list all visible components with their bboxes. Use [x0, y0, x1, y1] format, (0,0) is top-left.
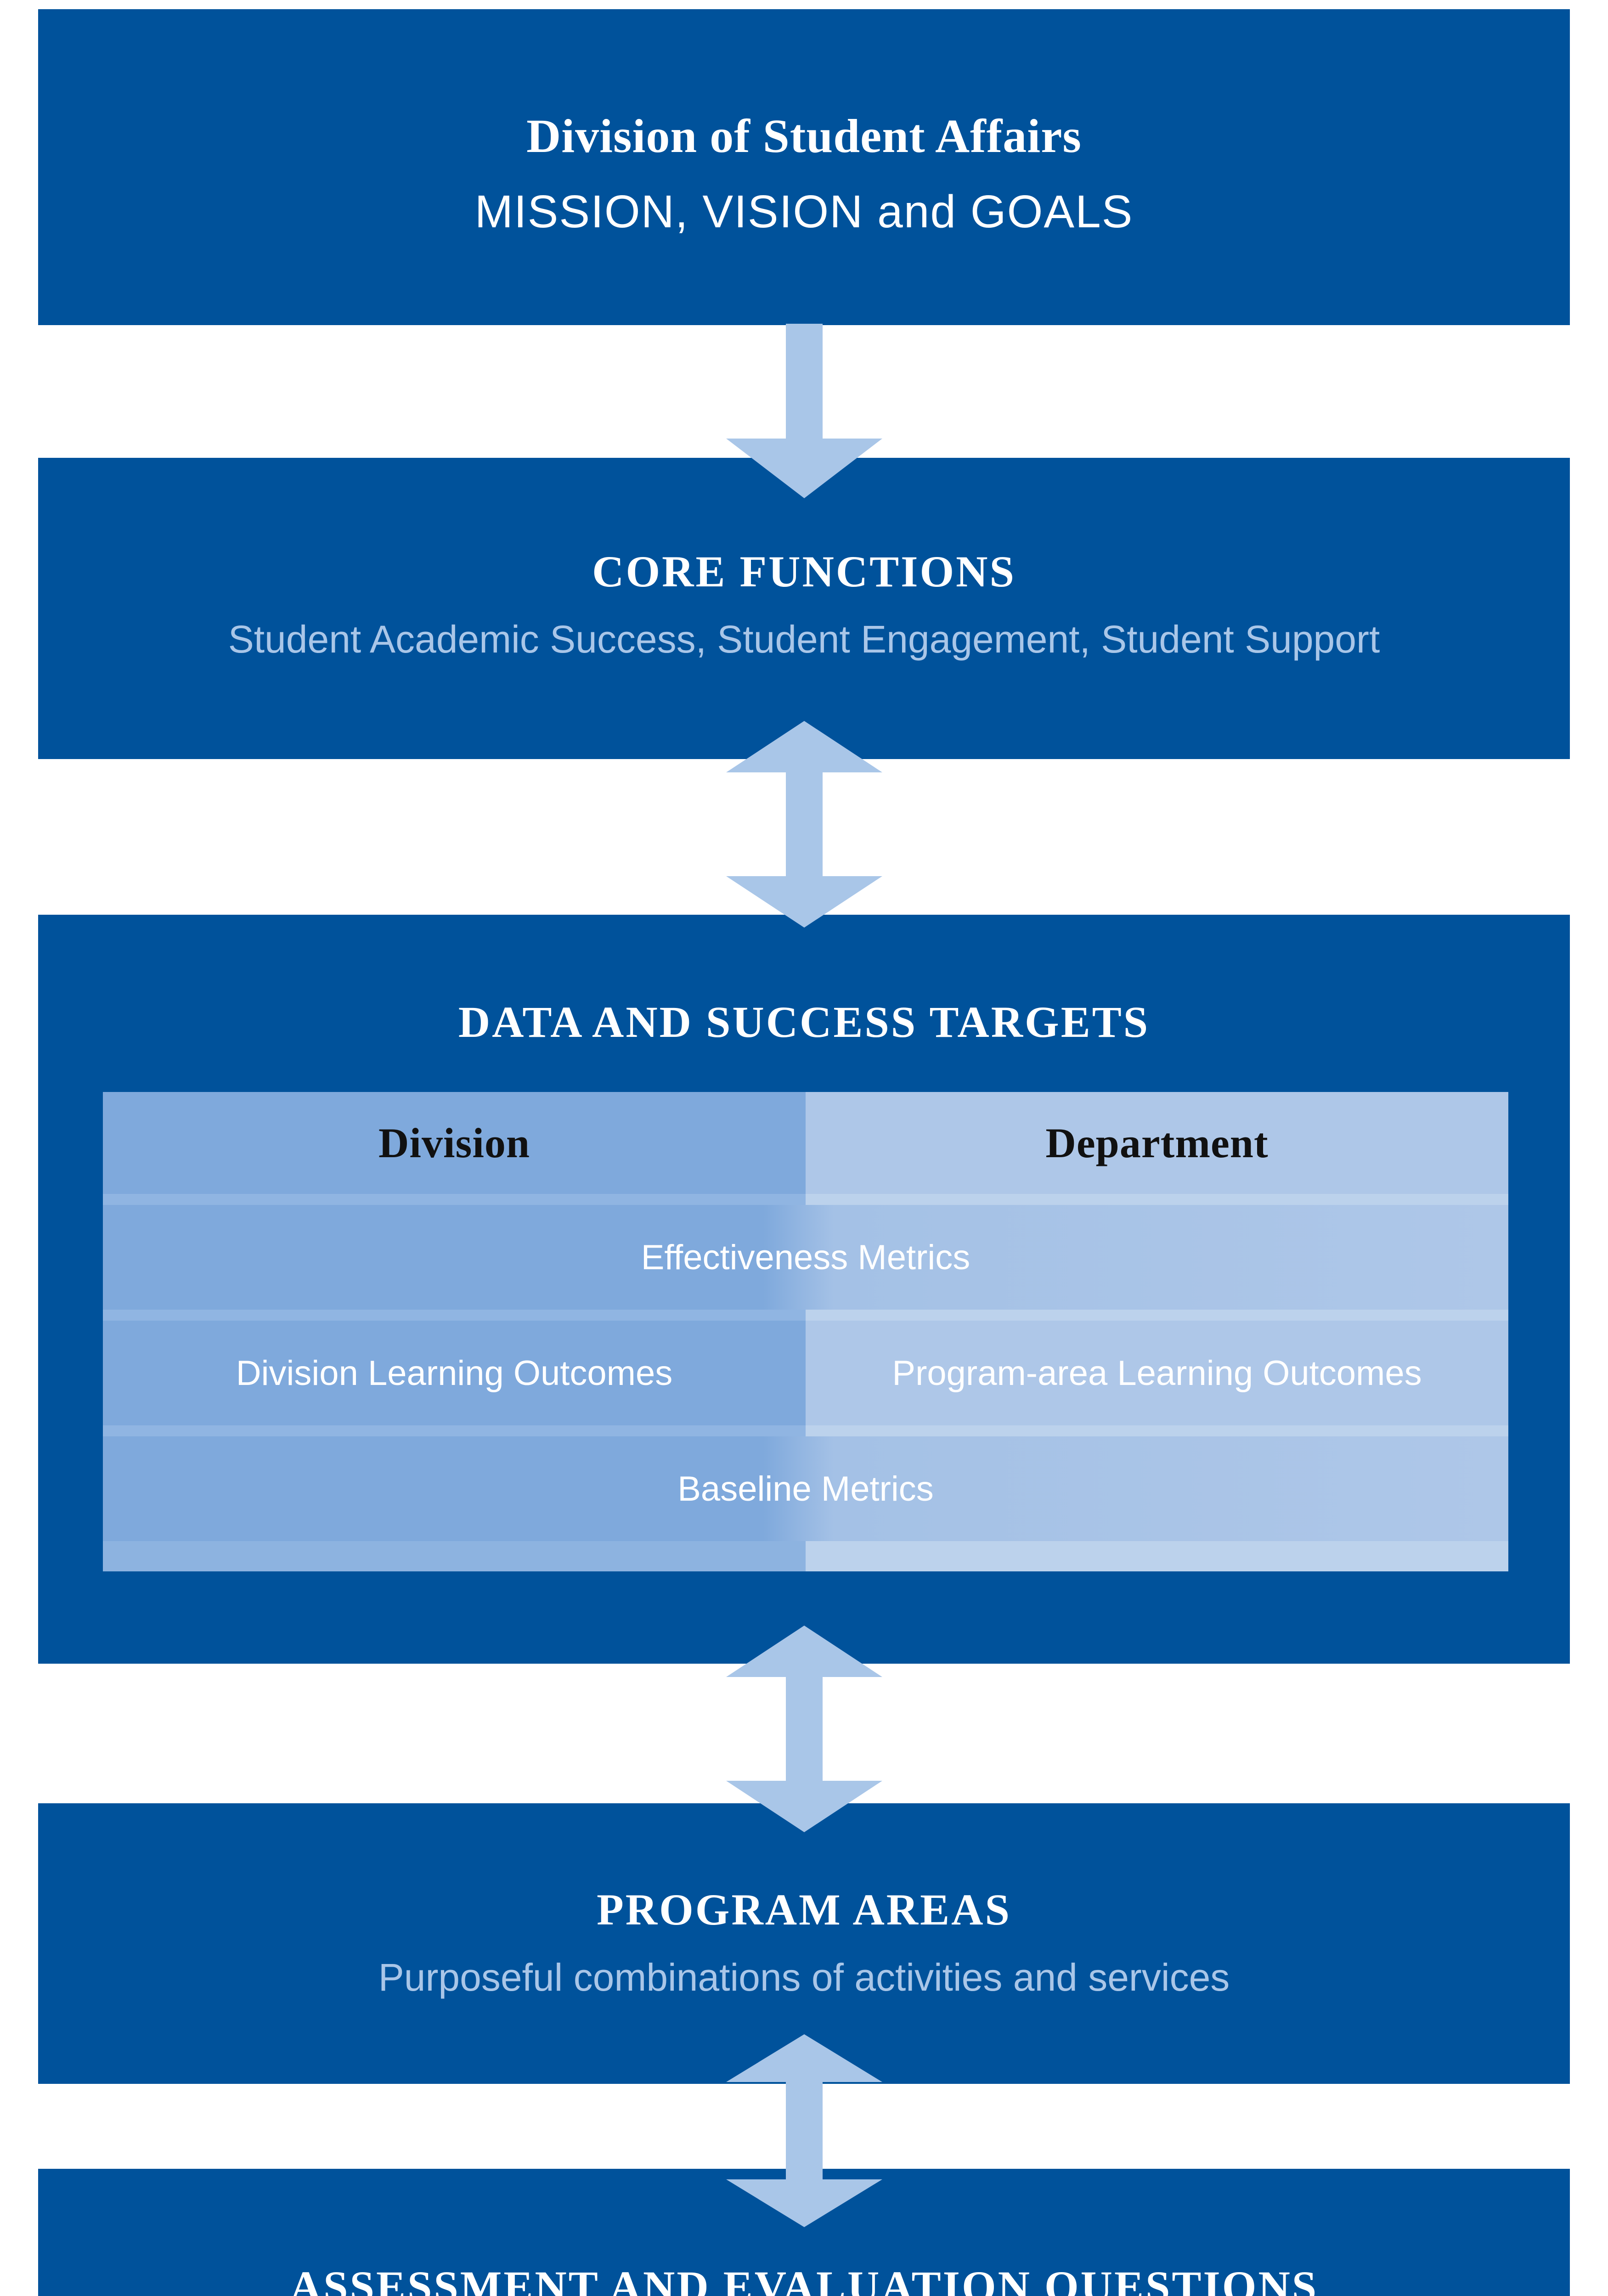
connector-program-to-assessment-arrow-up-down-icon	[726, 2034, 882, 2227]
matrix-column-header-division: Division	[103, 1092, 806, 1194]
matrix-separator-division	[103, 1194, 806, 1205]
matrix-row-baseline-metrics: Baseline Metrics	[103, 1436, 1508, 1541]
matrix-cell-baseline-metrics: Baseline Metrics	[103, 1436, 1508, 1541]
diagram-title: Division of Student Affairs Mission, Vis…	[0, 10, 0, 10]
matrix-separator-department	[806, 1425, 1508, 1436]
connector-core-to-data-arrow-up-down-icon	[726, 721, 882, 928]
program-areas-subtitle: Purposeful combinations of activities an…	[378, 1955, 1230, 2000]
node-core-functions[interactable]: CORE FUNCTIONS Student Academic Success,…	[38, 458, 1570, 759]
assessment-title: ASSESSMENT AND EVALUATION QUESTIONS	[290, 2264, 1318, 2296]
mission-subtitle: MISSION, VISION and GOALS	[475, 186, 1134, 237]
matrix-row-learning-outcomes: Division Learning Outcomes Program-area …	[103, 1321, 1508, 1425]
connector-data-to-program-arrow-up-down-icon	[726, 1626, 882, 1832]
program-areas-title: PROGRAM AREAS	[597, 1887, 1011, 1933]
data-targets-matrix: Division Department Effectiveness Metric…	[103, 1092, 1508, 1571]
matrix-footer-department	[806, 1541, 1508, 1571]
matrix-separator-division	[103, 1310, 806, 1321]
matrix-cell-program-area-learning-outcomes: Program-area Learning Outcomes	[806, 1321, 1508, 1425]
core-functions-title: CORE FUNCTIONS	[592, 549, 1016, 595]
matrix-row-separator	[103, 1425, 1508, 1436]
data-targets-title: DATA AND SUCCESS TARGETS	[458, 999, 1150, 1046]
matrix-separator-division	[103, 1425, 806, 1436]
matrix-cell-division-learning-outcomes: Division Learning Outcomes	[103, 1321, 806, 1425]
mission-title: Division of Student Affairs	[526, 111, 1082, 161]
matrix-row-separator	[103, 1310, 1508, 1321]
matrix-separator-department	[806, 1194, 1508, 1205]
matrix-cell-effectiveness-metrics: Effectiveness Metrics	[103, 1205, 1508, 1310]
connector-mission-to-core-arrow-down-icon	[726, 324, 882, 498]
matrix-row-separator	[103, 1194, 1508, 1205]
node-mission-vision-goals[interactable]: Division of Student Affairs MISSION, VIS…	[38, 9, 1570, 325]
matrix-column-header-department: Department	[806, 1092, 1508, 1194]
matrix-footer-division	[103, 1541, 806, 1571]
matrix-separator-department	[806, 1310, 1508, 1321]
matrix-header-row: Division Department	[103, 1092, 1508, 1194]
diagram-canvas: Division of Student Affairs Mission, Vis…	[0, 0, 1608, 2296]
matrix-row-footer	[103, 1541, 1508, 1571]
matrix-row-effectiveness-metrics: Effectiveness Metrics	[103, 1205, 1508, 1310]
core-functions-subtitle: Student Academic Success, Student Engage…	[228, 617, 1380, 662]
